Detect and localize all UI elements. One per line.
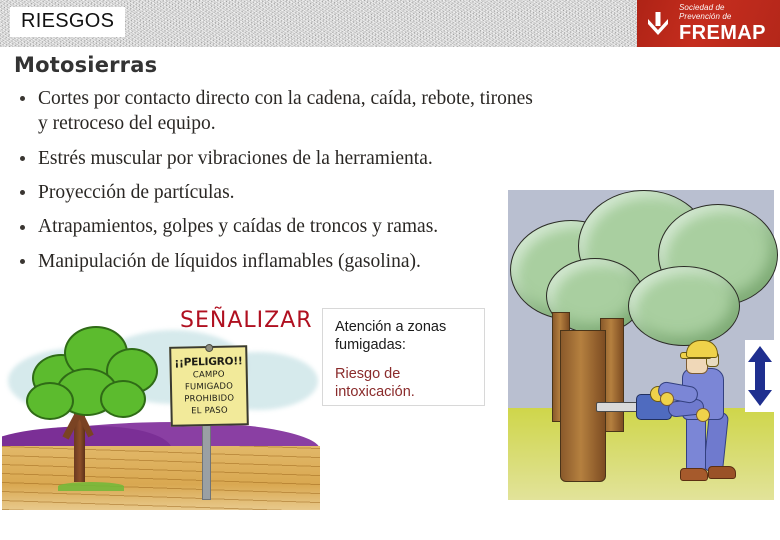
worker-boot-front bbox=[680, 468, 708, 481]
sign-line-3: FUMIGADO bbox=[185, 382, 233, 393]
logo-brand: FREMAP bbox=[679, 23, 774, 43]
section-tag-riesgos: RIESGOS bbox=[10, 7, 125, 37]
bullet-icon bbox=[20, 259, 25, 264]
sign-bolt-icon bbox=[205, 344, 213, 352]
worker-hand-front bbox=[660, 392, 674, 406]
warning-sign-board: ¡¡PELIGRO!! CAMPO FUMIGADO PROHIBIDO EL … bbox=[169, 345, 249, 427]
tree-foliage bbox=[26, 382, 74, 420]
scroll-control[interactable] bbox=[745, 340, 775, 412]
callout-box: Atención a zonas fumigadas: Riesgo de in… bbox=[322, 308, 485, 406]
list-item: Proyección de partículas. bbox=[16, 180, 536, 205]
fremap-logo: Sociedad de Prevención de FREMAP bbox=[637, 0, 780, 47]
list-item-text: Atrapamientos, golpes y caídas de tronco… bbox=[38, 216, 438, 237]
up-down-arrow-icon bbox=[747, 345, 773, 407]
worker-helmet bbox=[686, 340, 718, 358]
list-item-text: Manipulación de líquidos inflamables (ga… bbox=[38, 251, 421, 272]
sign-line-5: EL PASO bbox=[191, 406, 228, 417]
list-item: Cortes por contacto directo con la caden… bbox=[16, 86, 536, 137]
bullet-icon bbox=[20, 225, 25, 230]
worker-boot-back bbox=[708, 466, 736, 479]
section-tag-label: RIESGOS bbox=[21, 10, 114, 32]
worker-hand-back bbox=[696, 408, 710, 422]
tree-foliage bbox=[100, 380, 146, 418]
callout-note: Riesgo de intoxicación. bbox=[335, 365, 474, 401]
sign-line-4: PROHIBIDO bbox=[184, 394, 234, 405]
list-item-text: Cortes por contacto directo con la caden… bbox=[38, 88, 533, 134]
down-chevron-arrow-icon bbox=[637, 9, 679, 39]
sign-line-2: CAMPO bbox=[193, 370, 225, 381]
grass-tuft bbox=[58, 482, 124, 491]
list-item: Atrapamientos, golpes y caídas de tronco… bbox=[16, 214, 536, 239]
tree-canopy bbox=[628, 266, 740, 346]
list-item: Manipulación de líquidos inflamables (ga… bbox=[16, 249, 536, 274]
bullet-icon bbox=[20, 190, 25, 195]
logo-subtitle-line2: Prevención de bbox=[679, 13, 774, 22]
slide-canvas: RIESGOS Sociedad de Prevención de FREMAP… bbox=[0, 0, 780, 540]
illustration-ground bbox=[508, 408, 774, 500]
bullet-icon bbox=[20, 96, 25, 101]
list-item: Estrés muscular por vibraciones de la he… bbox=[16, 146, 536, 171]
field-foreground bbox=[2, 446, 320, 510]
list-item-text: Proyección de partículas. bbox=[38, 182, 235, 203]
callout-title: Atención a zonas fumigadas: bbox=[335, 318, 474, 354]
sign-line-1: ¡¡PELIGRO!! bbox=[174, 355, 242, 369]
bullet-icon bbox=[20, 156, 25, 161]
fremap-logo-text: Sociedad de Prevención de FREMAP bbox=[679, 4, 780, 43]
list-item-text: Estrés muscular por vibraciones de la he… bbox=[38, 148, 433, 169]
senalizar-caption: SEÑALIZAR bbox=[180, 308, 313, 333]
risk-list: Cortes por contacto directo con la caden… bbox=[16, 86, 536, 283]
forest-worker-illustration bbox=[500, 162, 780, 522]
page-title: Motosierras bbox=[14, 53, 157, 77]
